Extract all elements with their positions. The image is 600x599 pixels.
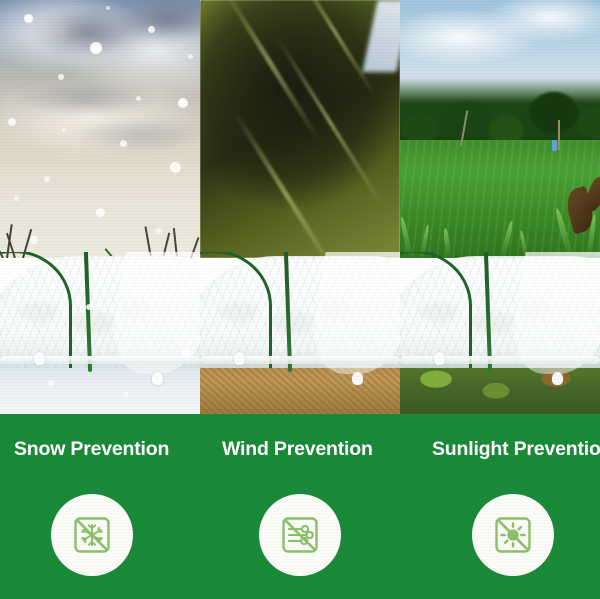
scene-panel-snow [0,0,200,414]
feature-icon-sunlight[interactable] [472,494,554,576]
row-cover-photo-snow [0,252,200,414]
feature-icon-wind[interactable] [259,494,341,576]
scene-panel-wind [200,0,400,414]
feature-icon-snow[interactable] [51,494,133,576]
feature-band: Snow Prevention [0,414,600,599]
no-wind-icon [278,513,322,557]
sunny-field-photo [400,0,600,258]
scene-panel-sunlight [400,0,600,414]
product-feature-banner: Snow Prevention [0,0,600,599]
feature-label-wind: Wind Prevention [222,438,373,461]
snow-sky-photo [0,0,200,258]
row-cover-photo-wind [200,252,400,414]
wind-grass-photo [200,0,400,258]
no-sun-icon [491,513,535,557]
row-cover-photo-sunlight [400,252,600,414]
no-snowflake-icon [70,513,114,557]
feature-label-sunlight: Sunlight Prevention [432,438,600,461]
feature-label-snow: Snow Prevention [14,438,169,461]
feature-list: Snow Prevention [0,414,600,599]
photo-strip [0,0,600,414]
